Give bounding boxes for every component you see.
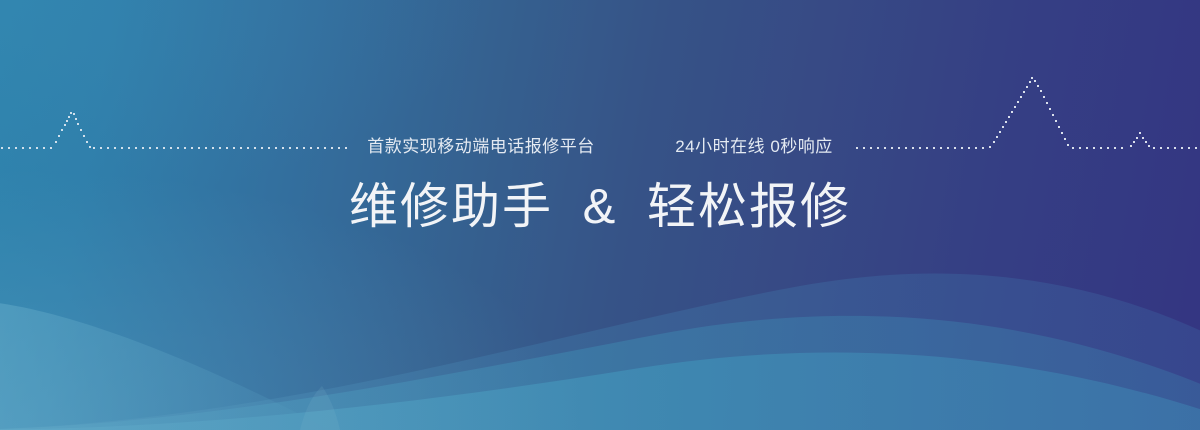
page-title: 维修助手 & 轻松报修 <box>0 178 1200 236</box>
hero-banner: 首款实现移动端电话报修平台 24小时在线 0秒响应 维修助手 & 轻松报修 <box>0 0 1200 430</box>
title-right: 轻松报修 <box>647 180 851 234</box>
title-separator: & <box>569 180 632 234</box>
banner-subtitle-row: 首款实现移动端电话报修平台 24小时在线 0秒响应 <box>0 136 1200 158</box>
title-left: 维修助手 <box>349 180 553 234</box>
subtitle-left: 首款实现移动端电话报修平台 <box>367 136 595 158</box>
subtitle-right: 24小时在线 0秒响应 <box>675 136 833 158</box>
banner-content: 首款实现移动端电话报修平台 24小时在线 0秒响应 维修助手 & 轻松报修 <box>0 0 1200 430</box>
